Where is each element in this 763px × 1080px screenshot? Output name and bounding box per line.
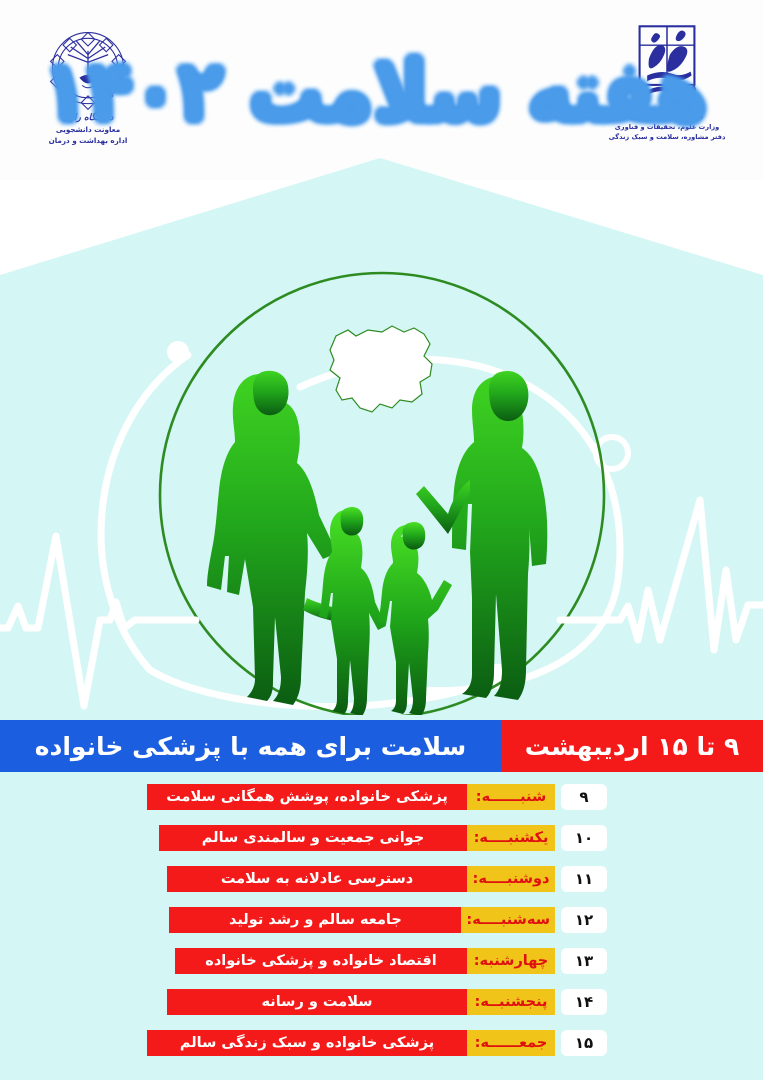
day-topic-label: جوانی جمعیت و سالمندی سالم — [159, 825, 467, 851]
day-row: شنبــــــه:پزشکی خانواده، پوشش همگانی سل… — [147, 784, 555, 810]
poster-header: دانشگاه رازی معاونت دانشجویی اداره بهداش… — [0, 0, 763, 180]
poster-title-text: هفته سلامت ۱۴۰۲ — [43, 51, 708, 134]
day-name-label: دوشنبــــه: — [467, 866, 555, 892]
poster-title: هفته سلامت ۱۴۰۲ — [165, 28, 585, 156]
day-number-badge: ۱۵ — [561, 1030, 607, 1056]
day-name-label: چهارشنبه: — [467, 948, 555, 974]
day-row: دوشنبــــه:دسترسی عادلانه به سلامت — [167, 866, 555, 892]
date-range-block: ۹ تا ۱۵ اردیبهشت — [501, 720, 763, 772]
day-number-badge: ۱۳ — [561, 948, 607, 974]
health-week-poster: دانشگاه رازی معاونت دانشجویی اداره بهداش… — [0, 0, 763, 1080]
day-number-badge: ۱۴ — [561, 989, 607, 1015]
day-row: یکشنبــــه:جوانی جمعیت و سالمندی سالم — [159, 825, 555, 851]
slogan-text: سلامت برای همه با پزشکی خانواده — [35, 732, 466, 761]
day-name-label: جمعــــــه: — [467, 1030, 555, 1056]
day-number-badge: ۱۲ — [561, 907, 607, 933]
slogan-block: سلامت برای همه با پزشکی خانواده — [0, 720, 501, 772]
day-name-label: سه‌شنبــــه: — [461, 907, 555, 933]
node-dot-left — [167, 341, 189, 363]
day-number-badge: ۱۰ — [561, 825, 607, 851]
day-row: سه‌شنبــــه:جامعه سالم و رشد تولید — [169, 907, 555, 933]
day-topic-label: دسترسی عادلانه به سلامت — [167, 866, 467, 892]
day-row: جمعــــــه:پزشکی خانواده و سبک زندگی سال… — [147, 1030, 555, 1056]
day-number-badge: ۹ — [561, 784, 607, 810]
slogan-banner: ۹ تا ۱۵ اردیبهشت سلامت برای همه با پزشکی… — [0, 720, 763, 772]
boy-silhouette — [378, 522, 452, 715]
iran-map-outline — [330, 326, 432, 412]
day-schedule-list: ۹شنبــــــه:پزشکی خانواده، پوشش همگانی س… — [0, 782, 763, 1072]
day-name-label: یکشنبــــه: — [467, 825, 555, 851]
day-row: پنجشنبــه:سلامت و رسانه — [167, 989, 555, 1015]
father-silhouette — [416, 371, 547, 700]
day-topic-label: پزشکی خانواده و سبک زندگی سالم — [147, 1030, 467, 1056]
day-name-label: شنبــــــه: — [467, 784, 555, 810]
day-topic-label: اقتصاد خانواده و پزشکی خانواده — [175, 948, 467, 974]
day-topic-label: سلامت و رسانه — [167, 989, 467, 1015]
day-name-label: پنجشنبــه: — [467, 989, 555, 1015]
day-row: چهارشنبه:اقتصاد خانواده و پزشکی خانواده — [175, 948, 555, 974]
day-topic-label: پزشکی خانواده، پوشش همگانی سلامت — [147, 784, 467, 810]
central-illustration — [0, 150, 763, 715]
day-topic-label: جامعه سالم و رشد تولید — [169, 907, 461, 933]
day-number-badge: ۱۱ — [561, 866, 607, 892]
date-range-text: ۹ تا ۱۵ اردیبهشت — [525, 732, 739, 761]
